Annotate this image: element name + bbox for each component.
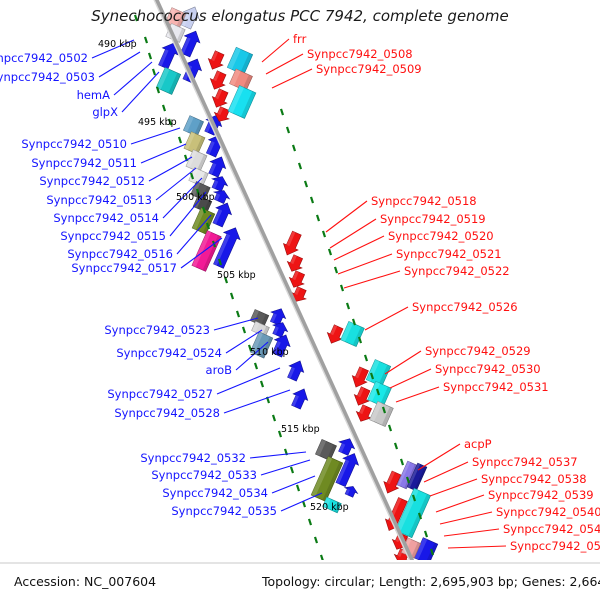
gene-label-left[interactable]: Synpcc7942_0512 bbox=[39, 174, 145, 188]
gene-label-right[interactable]: Synpcc7942_0541 bbox=[503, 522, 600, 536]
gene-label-right[interactable]: Synpcc7942_0526 bbox=[412, 300, 518, 314]
gene-label-left[interactable]: Synpcc7942_0524 bbox=[116, 346, 222, 360]
gene-label-left[interactable]: Synpcc7942_0523 bbox=[104, 323, 210, 337]
gene-label-right[interactable]: Synpcc7942_0531 bbox=[443, 380, 549, 394]
gene-label-right[interactable]: Synpcc7942_0521 bbox=[396, 247, 502, 261]
scale-marker-label: 505 kbp bbox=[217, 270, 256, 281]
gene-label-left[interactable]: Synpcc7942_0534 bbox=[162, 486, 268, 500]
scale-marker-label: 520 kbp bbox=[310, 502, 349, 513]
scale-marker-label: 495 kbp bbox=[138, 117, 177, 128]
gene-label-right[interactable]: Synpcc7942_0518 bbox=[371, 194, 477, 208]
gene-label-left[interactable]: Synpcc7942_0532 bbox=[140, 451, 246, 465]
gene-label-right[interactable]: Synpcc7942_0538 bbox=[481, 472, 587, 486]
scale-marker-label: 500 kbp bbox=[176, 192, 215, 203]
gene-label-right[interactable]: Synpcc7942_0522 bbox=[404, 264, 510, 278]
gene-label-left[interactable]: Synpcc7942_0533 bbox=[151, 468, 257, 482]
gene-label-left[interactable]: Synpcc7942_0516 bbox=[67, 247, 173, 261]
gene-label-left[interactable]: aroB bbox=[206, 363, 233, 377]
gene-label-right[interactable]: Synpcc7942_0508 bbox=[307, 47, 413, 61]
gene-label-left[interactable]: Synpcc7942_0517 bbox=[71, 261, 177, 275]
gene-label-right[interactable]: Synpcc7942_0519 bbox=[380, 212, 486, 226]
gene-label-right[interactable]: Synpcc7942_0530 bbox=[435, 362, 541, 376]
genome-viewer: 490 kbp495 kbp500 kbp505 kbp510 kbp515 k… bbox=[0, 0, 600, 600]
gene-label-right[interactable]: frr bbox=[293, 32, 307, 46]
gene-label-left[interactable]: Synpcc7942_0528 bbox=[114, 406, 220, 420]
gene-label-right[interactable]: Synpcc7942_0539 bbox=[488, 488, 594, 502]
gene-label-left[interactable]: Synpcc7942_0514 bbox=[53, 211, 159, 225]
gene-label-left[interactable]: Synpcc7942_0502 bbox=[0, 51, 88, 65]
gene-label-left[interactable]: Synpcc7942_0527 bbox=[107, 387, 213, 401]
gene-label-right[interactable]: Synpcc7942_0520 bbox=[388, 229, 494, 243]
gene-label-right[interactable]: Synpcc7942_0540 bbox=[496, 505, 600, 519]
page-title: Synechococcus elongatus PCC 7942, comple… bbox=[91, 7, 508, 25]
gene-label-left[interactable]: Synpcc7942_0510 bbox=[21, 137, 127, 151]
gene-label-left[interactable]: Synpcc7942_0503 bbox=[0, 70, 95, 84]
gene-label-left[interactable]: Synpcc7942_0513 bbox=[46, 193, 152, 207]
gene-label-right[interactable]: Synpcc7942_0509 bbox=[316, 62, 422, 76]
gene-label-left[interactable]: hemA bbox=[77, 88, 111, 102]
genome-map-svg[interactable]: 490 kbp495 kbp500 kbp505 kbp510 kbp515 k… bbox=[0, 0, 600, 600]
scale-marker-label: 515 kbp bbox=[281, 424, 320, 435]
gene-label-right[interactable]: acpP bbox=[464, 437, 492, 451]
scale-marker-label: 510 kbp bbox=[250, 347, 289, 358]
accession-label: Accession: NC_007604 bbox=[14, 574, 156, 589]
gene-label-right[interactable]: Synpcc7942_0542 bbox=[510, 539, 600, 553]
gene-label-right[interactable]: Synpcc7942_0529 bbox=[425, 344, 531, 358]
genome-summary-label: Topology: circular; Length: 2,695,903 bp… bbox=[261, 574, 600, 589]
gene-label-left[interactable]: glpX bbox=[92, 105, 118, 119]
gene-label-left[interactable]: Synpcc7942_0511 bbox=[31, 156, 137, 170]
gene-label-right[interactable]: Synpcc7942_0537 bbox=[472, 455, 578, 469]
scale-marker-label: 490 kbp bbox=[98, 39, 137, 50]
gene-label-left[interactable]: Synpcc7942_0515 bbox=[60, 229, 166, 243]
gene-label-left[interactable]: Synpcc7942_0535 bbox=[171, 504, 277, 518]
